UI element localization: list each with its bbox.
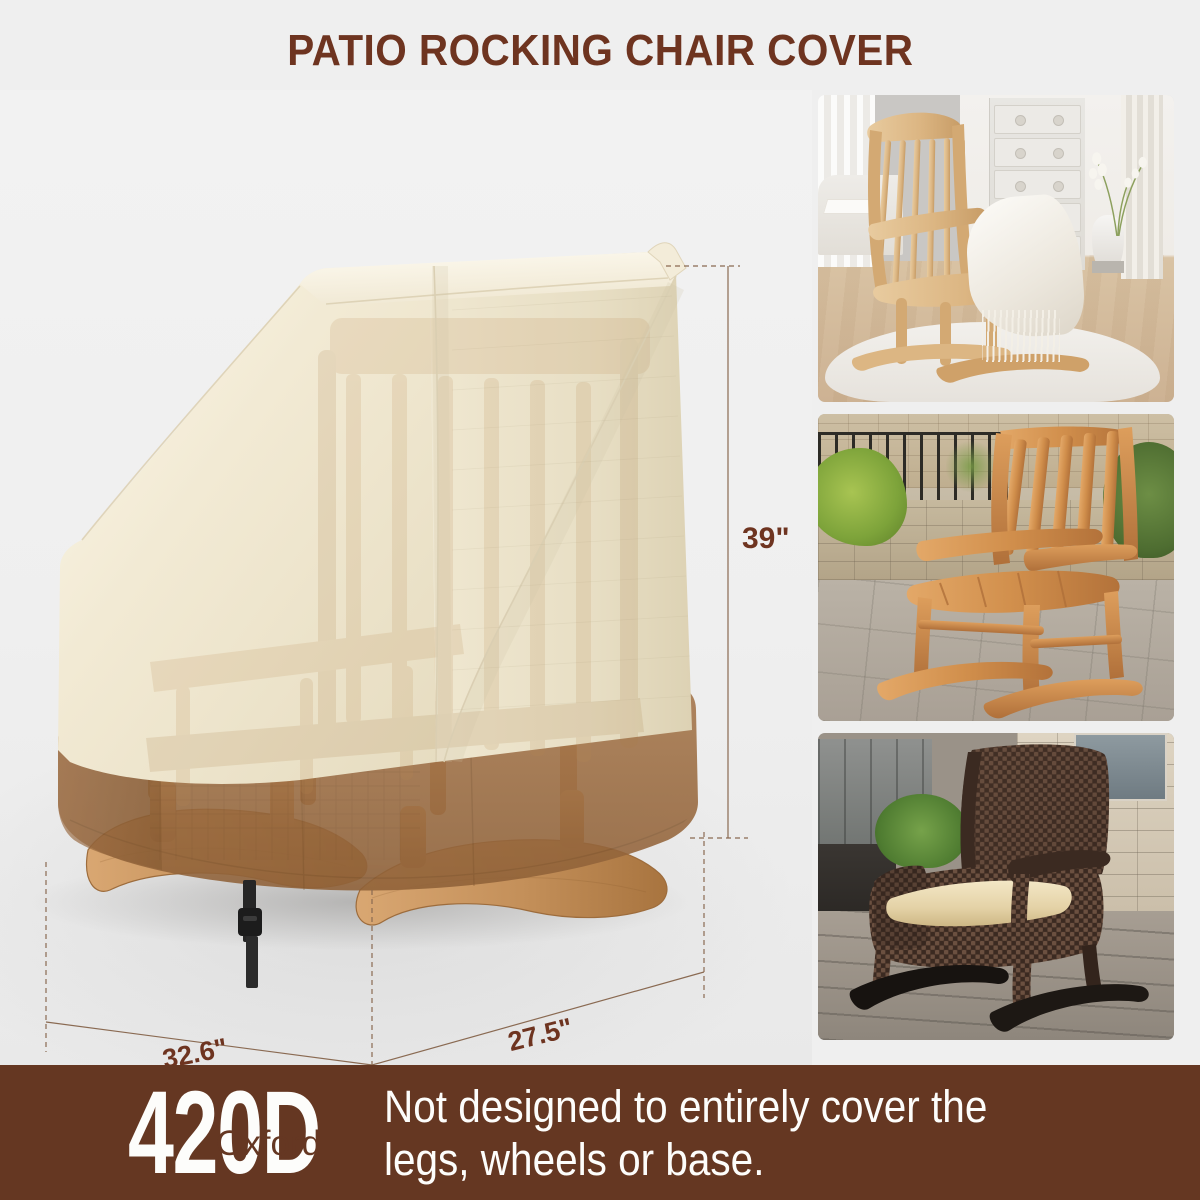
lifestyle-photo-column [818, 95, 1174, 1040]
patio-chair-shape [818, 414, 1174, 721]
chair-cover-illustration [0, 90, 812, 1065]
buckle-strap [238, 880, 262, 988]
photo-indoor-wood-rocking-chair [818, 95, 1174, 402]
wicker-chair-shape [818, 733, 1174, 1040]
page-title: PATIO ROCKING CHAIR COVER [0, 22, 1200, 80]
photo-wicker-rocking-chair [818, 733, 1174, 1040]
page-title-text: PATIO ROCKING CHAIR COVER [287, 26, 913, 76]
product-infographic: PATIO ROCKING CHAIR COVER [0, 0, 1200, 1200]
fabric-spec: 420D Oxford [128, 1074, 364, 1192]
fabric-material-label: Oxford [216, 1124, 321, 1164]
photo-patio-wood-rocking-chair [818, 414, 1174, 721]
hero-product-image: 39" 32.6" 27.5" [0, 90, 812, 1065]
bottom-banner: 420D Oxford Not designed to entirely cov… [0, 1065, 1200, 1200]
banner-disclaimer-text: Not designed to entirely cover the legs,… [384, 1080, 987, 1186]
